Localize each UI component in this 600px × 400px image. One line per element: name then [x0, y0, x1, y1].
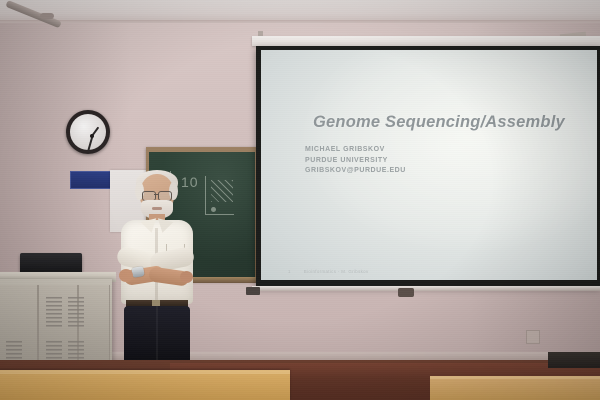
slide-email: GRIBSKOV@PURDUE.EDU	[305, 166, 406, 177]
clock-center-pin	[90, 134, 94, 138]
wristwatch	[131, 266, 144, 278]
slide-title: Genome Sequencing/Assembly	[313, 113, 565, 132]
lectern-vent-3	[68, 297, 84, 327]
chalk-diagram-hatching	[211, 180, 233, 202]
screen-roller-housing	[252, 36, 600, 46]
screen-bottom-bar	[252, 286, 600, 291]
slide-page-number: 1	[288, 269, 291, 274]
screen-weight-middle	[398, 288, 414, 297]
screen-weight-left	[246, 287, 260, 295]
ceiling-pipe-bracket	[40, 13, 54, 19]
chalk-diagram-dot	[211, 207, 216, 212]
desk-far-right	[548, 352, 600, 368]
slide-affiliation: PURDUE UNIVERSITY	[305, 156, 406, 167]
hand-right	[180, 271, 193, 283]
classroom-photo: | 10 Genome Sequencing/Assembly MICHAEL …	[0, 0, 600, 400]
slide-presenter-name: MICHAEL GRIBSKOV	[305, 145, 406, 156]
pant-seam	[156, 306, 158, 368]
hand-left	[119, 269, 133, 282]
lectern-cabinet	[0, 279, 112, 365]
clock-face	[70, 114, 106, 150]
desk-right	[430, 376, 600, 400]
mouth	[152, 207, 162, 210]
presenter	[104, 172, 208, 368]
desk-left	[0, 370, 290, 400]
ceiling	[0, 0, 600, 22]
wall-clock	[66, 110, 110, 154]
clock-minute-hand	[87, 136, 93, 152]
slide-footer: 1Bioinformatics - M. Gribskov	[288, 269, 369, 274]
wall-outlet	[526, 330, 540, 344]
glasses-bridge	[154, 194, 158, 195]
desk-left-edge	[0, 370, 290, 374]
slide-subtitle: MICHAEL GRIBSKOV PURDUE UNIVERSITY GRIBS…	[305, 145, 406, 177]
lectern-vent-2	[46, 297, 62, 327]
projection-screen: Genome Sequencing/Assembly MICHAEL GRIBS…	[261, 50, 597, 280]
desk-right-edge	[430, 376, 600, 379]
slide-footer-text: Bioinformatics - M. Gribskov	[304, 269, 369, 274]
